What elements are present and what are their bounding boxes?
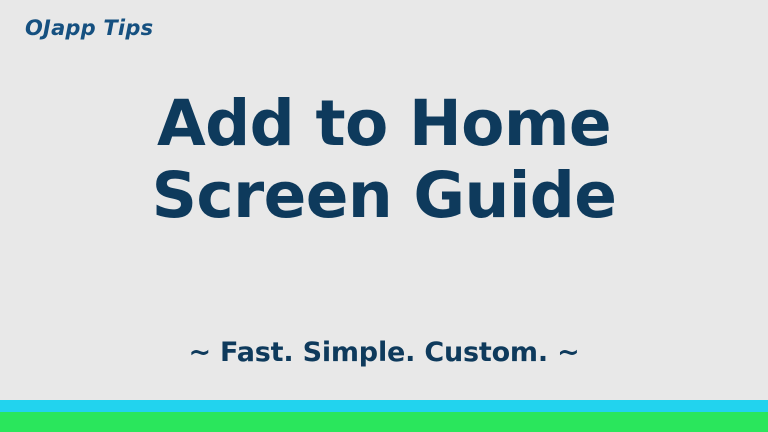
page-title: Add to Home Screen Guide xyxy=(0,88,768,232)
page-title-line-1: Add to Home xyxy=(0,88,768,160)
tagline: ~ Fast. Simple. Custom. ~ xyxy=(0,336,768,370)
page-title-line-2: Screen Guide xyxy=(0,160,768,232)
accent-bar-cyan xyxy=(0,400,768,412)
accent-bar-group xyxy=(0,400,768,432)
accent-bar-green xyxy=(0,412,768,432)
title-slide: OJapp Tips Add to Home Screen Guide ~ Fa… xyxy=(0,0,768,432)
brand-logo: OJapp Tips xyxy=(25,14,153,42)
